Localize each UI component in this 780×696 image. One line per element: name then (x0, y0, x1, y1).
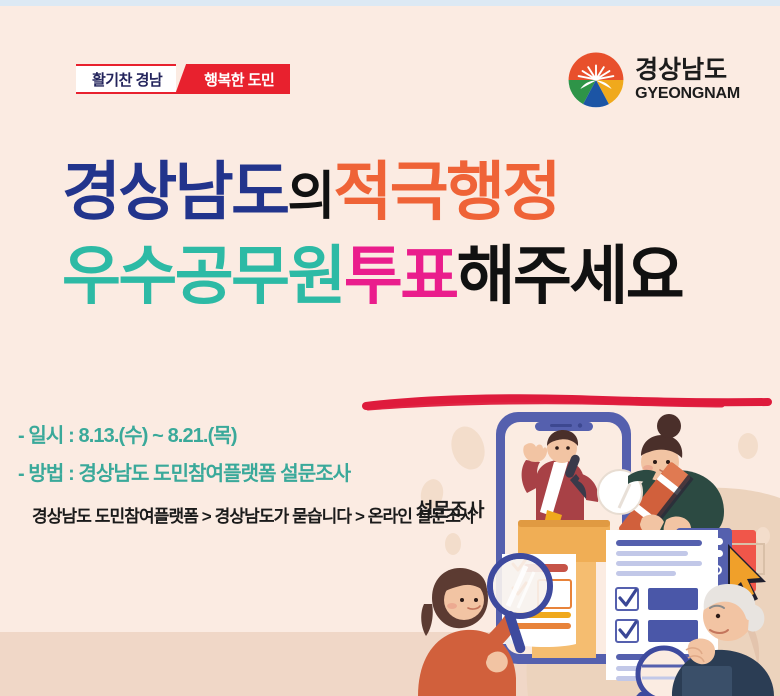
headline-text-gyeongnamdo: 경상남도 (62, 156, 288, 228)
logo-name-en: GYEONGNAM (635, 86, 740, 102)
headline-text-excellent-officials: 우수공무원 (62, 240, 344, 312)
gyeongnam-emblem-icon (568, 52, 624, 108)
headline-block: 경상남도의적극행정 우수공무원투표해주세요 (62, 150, 742, 319)
logo-text-block: 경상남도 GYEONGNAM (635, 58, 740, 102)
headline-text-please: 해주세요 (457, 240, 683, 312)
slogan-wedge (175, 64, 201, 94)
headline-text-proactive-admin: 적극행정 (333, 156, 559, 228)
logo-name-ko: 경상남도 (635, 58, 740, 83)
top-accent-strip (0, 0, 780, 6)
headline-text-ui: 의 (288, 168, 334, 226)
illustration-caption: 설문조사 (416, 499, 485, 521)
promo-banner: 활기찬 경남 행복한 도민 (0, 0, 780, 696)
slogan-right-half: 행복한 도민 (200, 64, 290, 94)
headline-text-vote: 투표 (344, 240, 457, 312)
slogan-badge: 활기찬 경남 행복한 도민 (76, 64, 290, 94)
slogan-left-text: 활기찬 경남 (92, 69, 162, 90)
headline-line-2: 우수공무원투표해주세요 (62, 234, 742, 318)
gyeongnam-logo: 경상남도 GYEONGNAM (568, 52, 740, 108)
headline-line-1: 경상남도의적극행정 (62, 150, 742, 234)
slogan-left-half: 활기찬 경남 (76, 64, 176, 94)
slogan-right-text: 행복한 도민 (204, 69, 274, 90)
survey-illustration: 설문조사 (410, 398, 780, 696)
